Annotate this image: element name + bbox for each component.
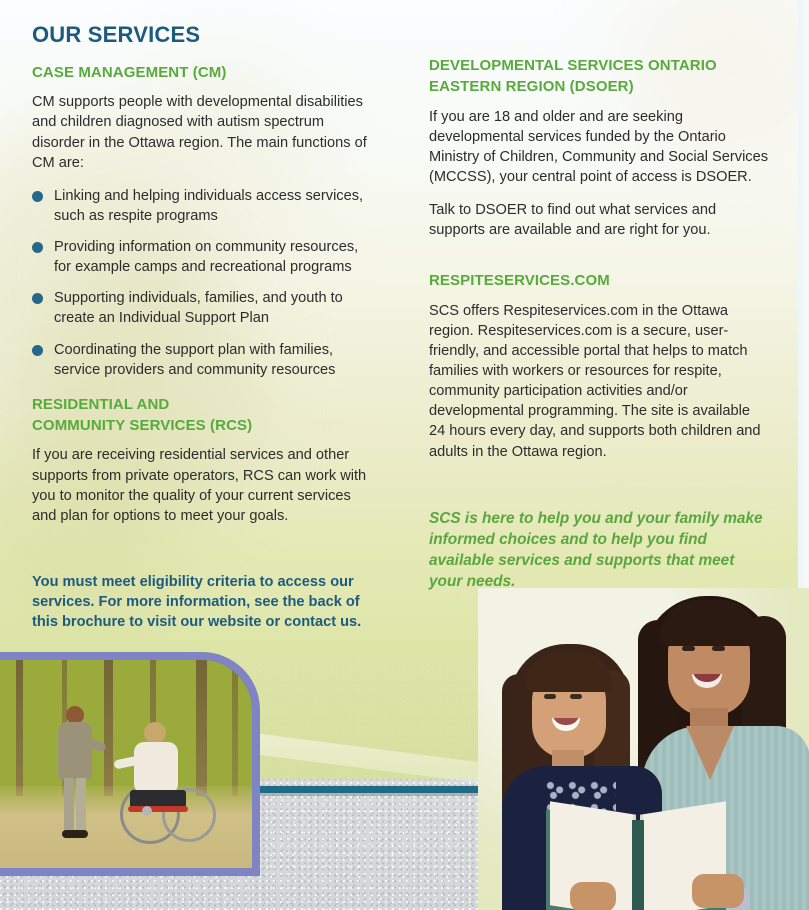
residential-community-services-paragraph: If you are receiving residential service… (32, 445, 377, 526)
respiteservices-paragraph: SCS offers Respiteservices.com in the Ot… (429, 301, 769, 462)
heading-line-1: DEVELOPMENTAL SERVICES ONTARIO (429, 57, 717, 74)
bullet-dot-icon (32, 242, 43, 253)
case-management-paragraph: CM supports people with developmental di… (32, 92, 377, 173)
eligibility-note: You must meet eligibility criteria to ac… (32, 572, 377, 632)
list-item: Linking and helping individuals access s… (32, 186, 377, 226)
case-management-bullet-list: Linking and helping individuals access s… (32, 186, 377, 380)
bullet-dot-icon (32, 345, 43, 356)
dsoer-paragraph-1: If you are 18 and older and are seeking … (429, 107, 769, 188)
heading-line-2: COMMUNITY SERVICES (RCS) (32, 417, 252, 434)
teal-divider-rule (258, 786, 506, 793)
spacer (429, 475, 769, 508)
left-content-column: OUR SERVICES CASE MANAGEMENT (CM) CM sup… (32, 22, 377, 632)
list-item-label: Coordinating the support plan with famil… (54, 342, 335, 378)
wheelchair-user-figure (118, 722, 214, 850)
page-title: OUR SERVICES (32, 22, 377, 48)
right-edge-seam (798, 0, 809, 660)
list-item: Providing information on community resou… (32, 237, 377, 277)
tree-trunk (16, 660, 23, 796)
spacer (429, 253, 769, 270)
right-content-column: DEVELOPMENTAL SERVICES ONTARIO EASTERN R… (429, 55, 769, 593)
brochure-page: OUR SERVICES CASE MANAGEMENT (CM) CM sup… (0, 0, 809, 910)
section-heading-residential-community-services: RESIDENTIAL AND COMMUNITY SERVICES (RCS) (32, 394, 377, 437)
bullet-dot-icon (32, 293, 43, 304)
walking-man-figure (52, 706, 98, 842)
closing-statement: SCS is here to help you and your family … (429, 508, 769, 593)
list-item: Coordinating the support plan with famil… (32, 340, 377, 380)
list-item-label: Supporting individuals, families, and yo… (54, 290, 343, 326)
spacer (32, 539, 377, 572)
list-item-label: Providing information on community resou… (54, 239, 358, 275)
section-heading-dsoer: DEVELOPMENTAL SERVICES ONTARIO EASTERN R… (429, 55, 769, 98)
bullet-dot-icon (32, 191, 43, 202)
tree-trunk (104, 660, 113, 796)
list-item: Supporting individuals, families, and yo… (32, 288, 377, 328)
heading-line-1: RESIDENTIAL AND (32, 396, 169, 413)
tree-trunk (232, 660, 238, 796)
section-heading-case-management: CASE MANAGEMENT (CM) (32, 62, 377, 83)
mother-daughter-photo (478, 588, 809, 910)
dsoer-paragraph-2: Talk to DSOER to find out what services … (429, 200, 769, 240)
hand (692, 874, 744, 908)
hand (570, 882, 616, 910)
section-heading-respiteservices: RESPITESERVICES.COM (429, 270, 769, 291)
list-item-label: Linking and helping individuals access s… (54, 188, 363, 224)
autumn-walk-photo (0, 652, 260, 876)
heading-line-2: EASTERN REGION (DSOER) (429, 78, 634, 95)
